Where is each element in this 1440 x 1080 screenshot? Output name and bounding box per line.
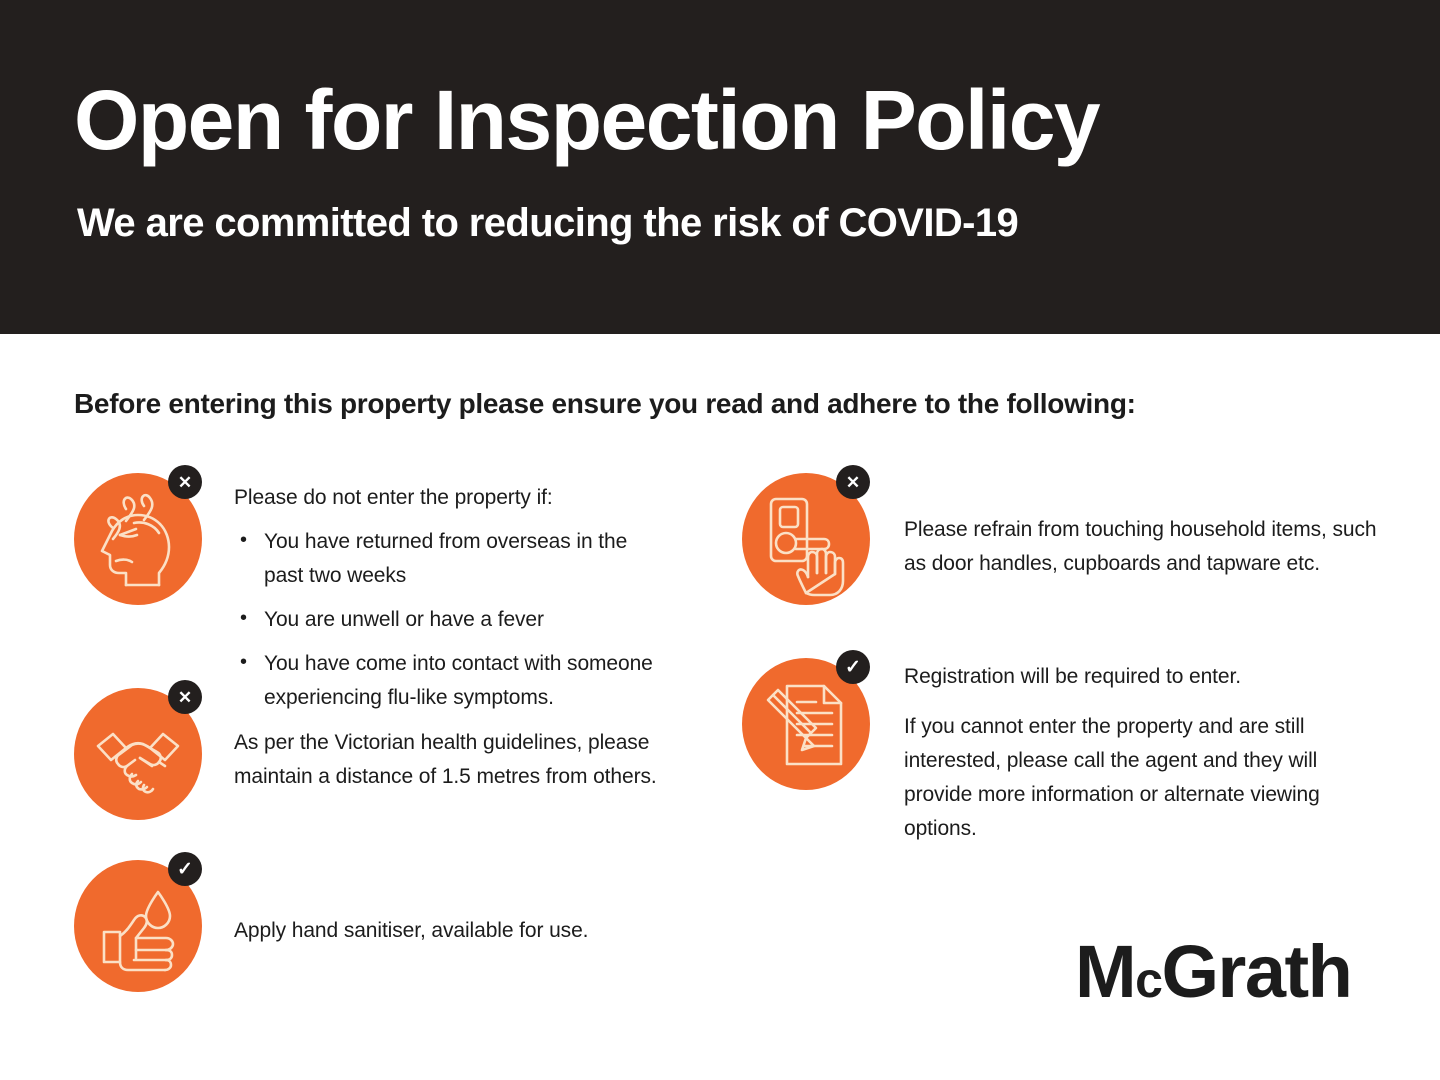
page-subtitle: We are committed to reducing the risk of… xyxy=(77,203,1018,243)
item-paragraph: If you cannot enter the property and are… xyxy=(904,710,1384,846)
check-badge: ✓ xyxy=(168,852,202,886)
open-for-inspection-policy-poster: Open for Inspection Policy We are commit… xyxy=(0,0,1440,1080)
item-paragraph: Apply hand sanitiser, available for use. xyxy=(234,914,664,948)
handshake-icon-wrap: ✕ xyxy=(74,680,202,828)
list-item: ✓ Apply hand sanitiser, available for us… xyxy=(74,852,694,1012)
item-lead: Please do not enter the property if: xyxy=(234,481,664,515)
page-title: Open for Inspection Policy xyxy=(74,78,1099,162)
item-paragraph: As per the Victorian health guidelines, … xyxy=(234,726,664,794)
cross-badge: ✕ xyxy=(168,465,202,499)
cross-badge: ✕ xyxy=(168,680,202,714)
list-item: ✕ Please refrain from touching household… xyxy=(742,465,1392,650)
item-text: Apply hand sanitiser, available for use. xyxy=(234,914,664,948)
logo-m: M xyxy=(1075,930,1135,1013)
registration-form-pencil-icon-wrap: ✓ xyxy=(742,650,870,798)
item-paragraph: Please refrain from touching household i… xyxy=(904,513,1384,581)
item-text: Please refrain from touching household i… xyxy=(904,513,1384,581)
list-item-bullet: You have returned from overseas in the p… xyxy=(234,525,664,593)
door-handle-hand-icon-wrap: ✕ xyxy=(742,465,870,613)
logo-grath: Grath xyxy=(1161,930,1351,1013)
item-paragraph: Registration will be required to enter. xyxy=(904,660,1384,694)
list-item: ✕ As per the Victorian health guidelines… xyxy=(74,680,694,852)
right-column: ✕ Please refrain from touching household… xyxy=(742,465,1392,850)
left-column: ✕ Please do not enter the property if: Y… xyxy=(74,465,694,1012)
fever-head-icon-wrap: ✕ xyxy=(74,465,202,613)
list-item-bullet: You are unwell or have a fever xyxy=(234,603,664,637)
hand-sanitiser-icon-wrap: ✓ xyxy=(74,852,202,1000)
header-banner: Open for Inspection Policy We are commit… xyxy=(0,0,1440,334)
intro-instruction: Before entering this property please ens… xyxy=(74,388,1136,420)
item-text: As per the Victorian health guidelines, … xyxy=(234,726,664,794)
cross-badge: ✕ xyxy=(836,465,870,499)
list-item: ✕ Please do not enter the property if: Y… xyxy=(74,465,694,680)
list-item: ✓ Registration will be required to enter… xyxy=(742,650,1392,850)
logo-c: c xyxy=(1135,952,1161,1008)
check-badge: ✓ xyxy=(836,650,870,684)
mcgrath-logo: McGrath xyxy=(1075,935,1351,1009)
item-text: Registration will be required to enter. … xyxy=(904,660,1384,846)
